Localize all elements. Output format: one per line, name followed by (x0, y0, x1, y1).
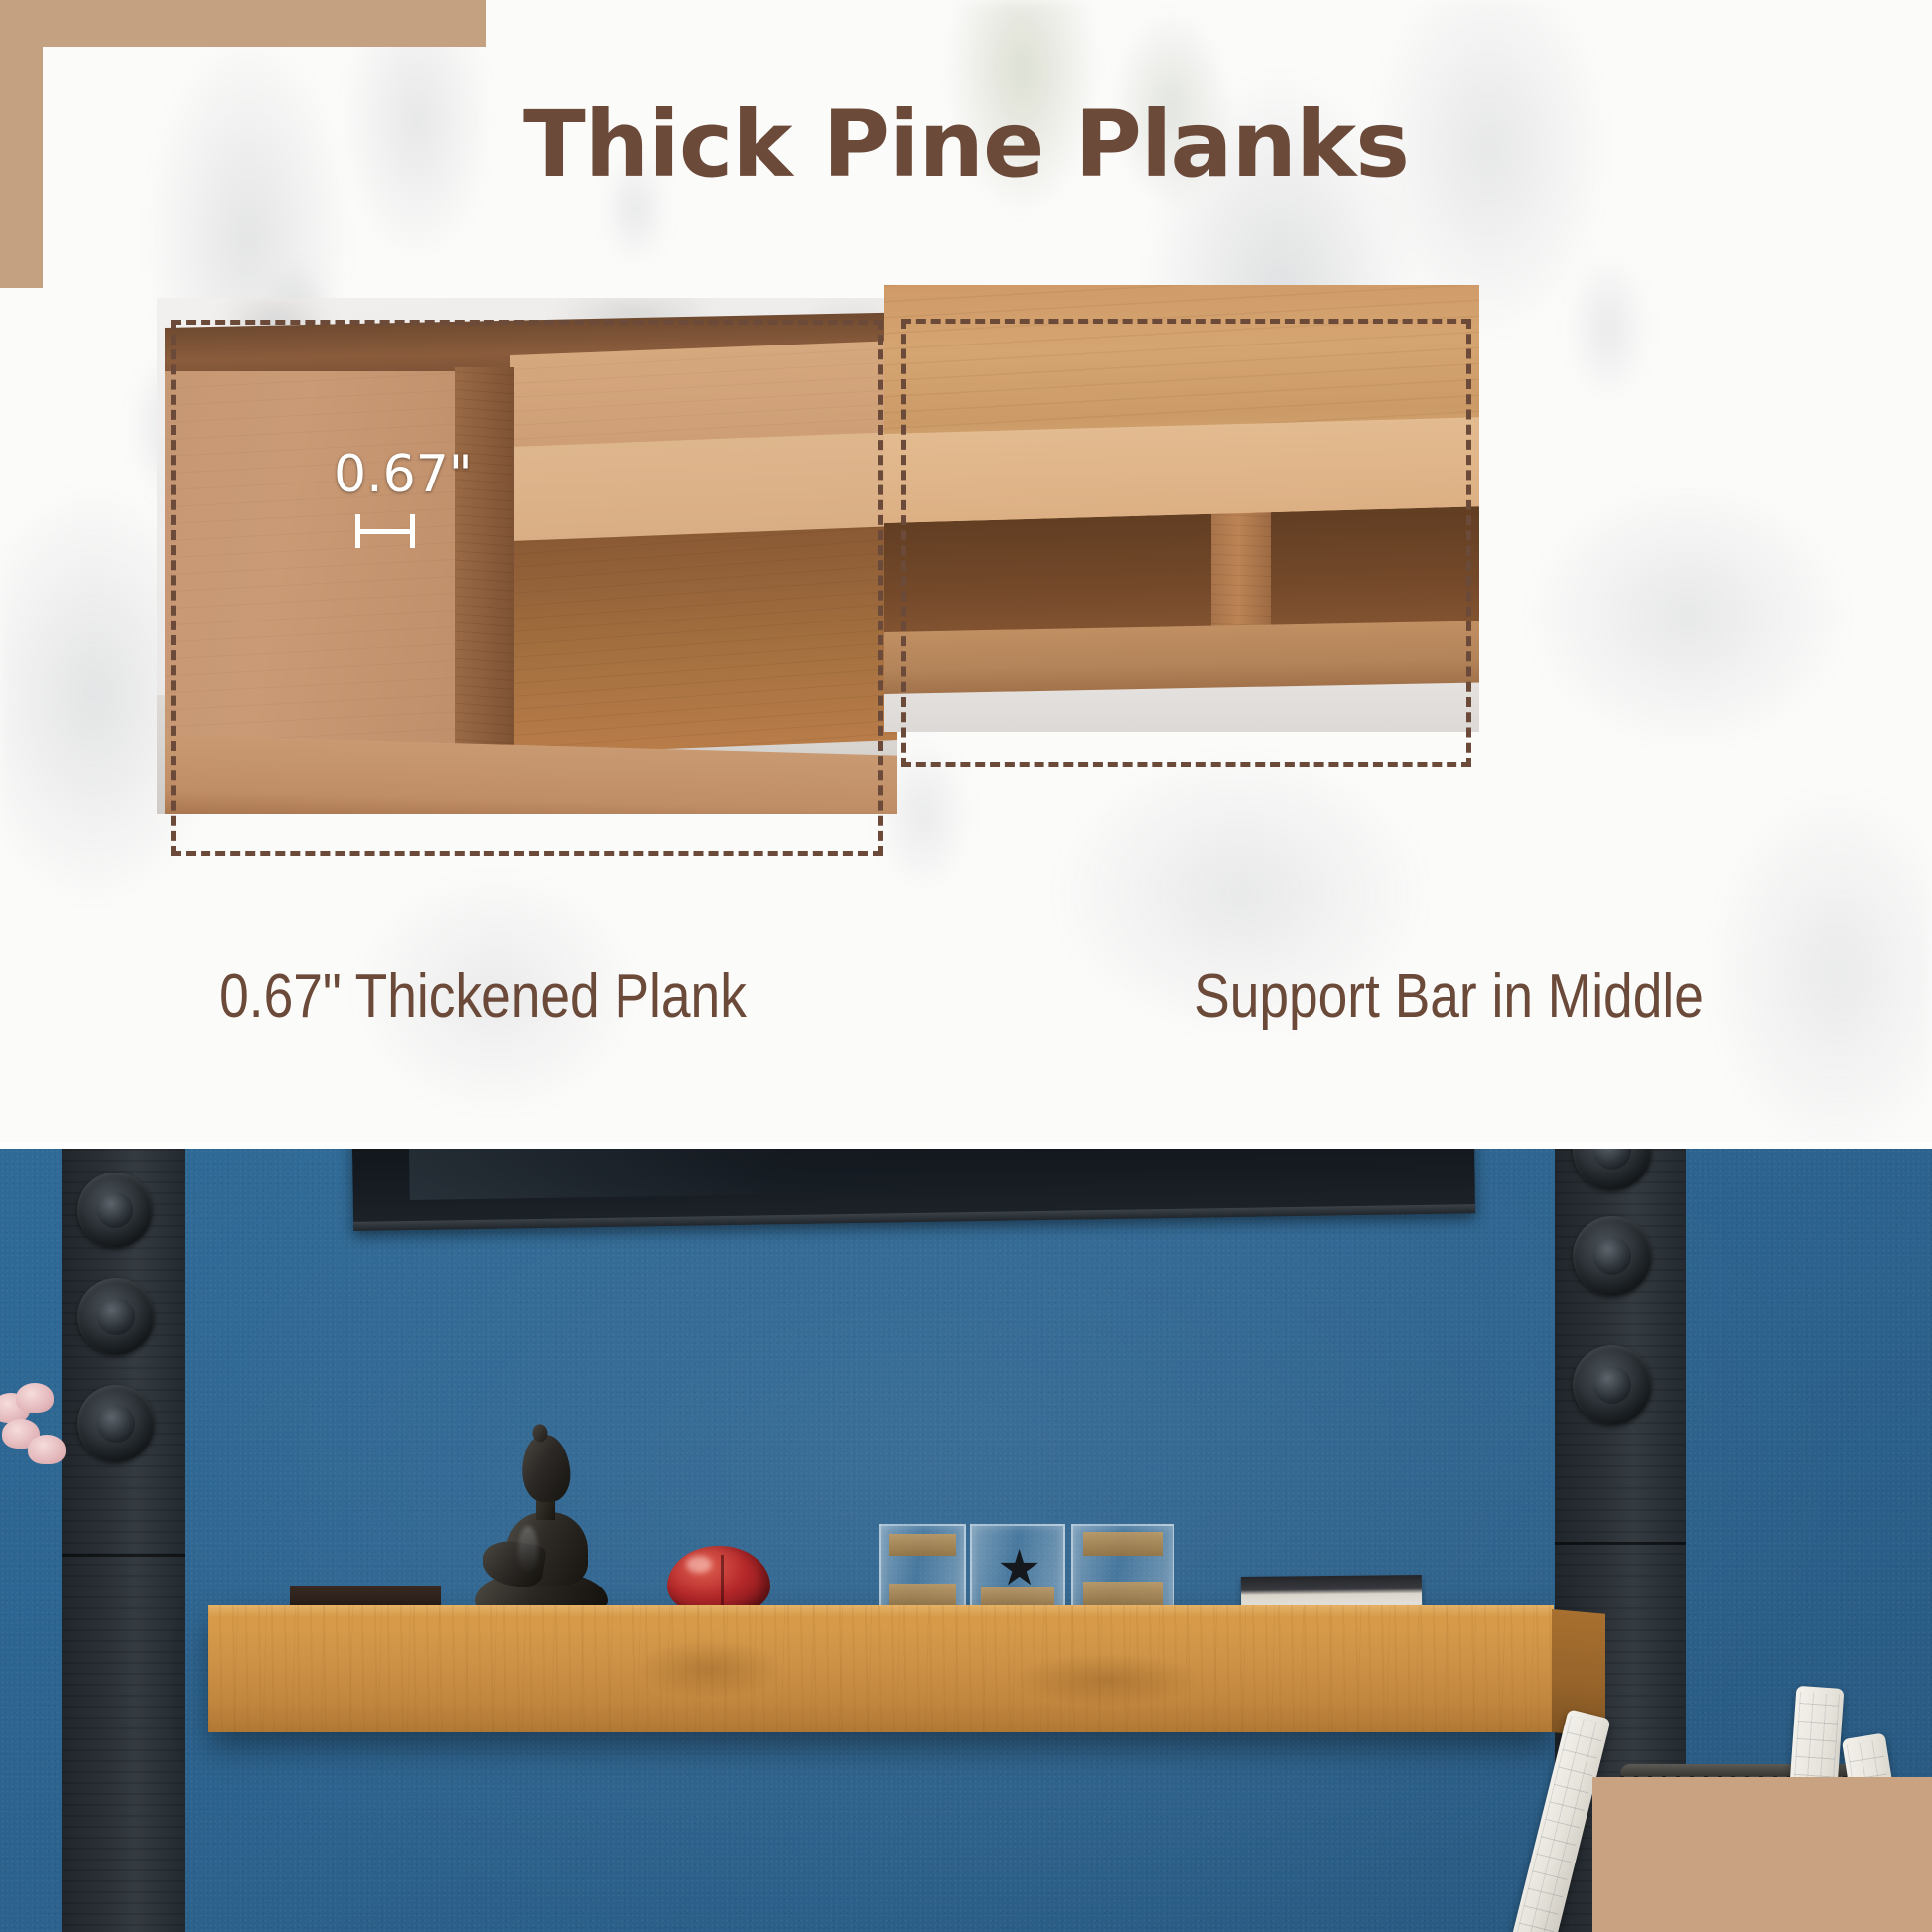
feature-section: Thick Pine Planks (0, 0, 1932, 1149)
driver-dome (97, 1298, 134, 1334)
dimension-line (355, 529, 415, 534)
glass-vessel-2 (970, 1524, 1065, 1615)
driver-dome (97, 1405, 134, 1442)
speaker-driver (1573, 1345, 1652, 1425)
buddha-statue (467, 1435, 614, 1613)
wood-grain (455, 367, 514, 784)
shelf-bottom-board (884, 621, 1479, 694)
egg-seam (721, 1555, 724, 1610)
speaker-driver (77, 1278, 155, 1355)
feature-caption-thickness: 0.67" Thickened Plank (68, 961, 898, 1032)
speaker-column-left (62, 1149, 185, 1932)
speaker-driver (1573, 1216, 1652, 1296)
glass-vessel-1 (879, 1524, 966, 1615)
dimension-cap-right (410, 514, 415, 548)
driver-dome (1593, 1237, 1631, 1275)
shelf-wood-grain (208, 1605, 1554, 1732)
speaker-wood-grain (62, 1149, 185, 1932)
plank-thickness-edge (455, 367, 514, 784)
plank-inner-cavity (510, 526, 897, 755)
driver-dome (97, 1192, 133, 1228)
speaker-panel-seam (62, 1554, 185, 1557)
glass-vessel-3 (1071, 1524, 1174, 1615)
statue-head (520, 1433, 573, 1503)
poster-canvas: Thick Pine Planks (0, 0, 1932, 1932)
flower-petal (16, 1383, 54, 1413)
tv-screen-reflection (408, 1149, 1027, 1200)
floating-wood-shelf (208, 1605, 1554, 1732)
driver-dome (1593, 1366, 1631, 1404)
vessel-contents (889, 1534, 955, 1556)
flower-petal (28, 1435, 66, 1464)
tan-corner-block (1592, 1777, 1932, 1932)
dimension-measure-bar (355, 514, 415, 548)
egg-highlight (686, 1556, 712, 1573)
feature-photo-thickness: 0.67" (157, 298, 897, 814)
wood-knot (1013, 1653, 1201, 1707)
statue-highlight (518, 1526, 538, 1574)
shelf-light-band (884, 417, 1479, 523)
feature-caption-support-bar: Support Bar in Middle (1034, 961, 1864, 1032)
vessel-contents (1083, 1532, 1163, 1556)
flower-sprig (0, 1383, 77, 1478)
speaker-driver (77, 1385, 155, 1462)
bracket-bar-horizontal (0, 0, 486, 47)
support-bar-scene (884, 285, 1479, 732)
driver-dome (1593, 1149, 1631, 1170)
glass-vessel-group (879, 1524, 1186, 1615)
wood-grain (165, 371, 463, 768)
star-ornament (1000, 1549, 1039, 1588)
plank-side-face (165, 371, 463, 768)
plank-closeup-scene: 0.67" (157, 298, 897, 814)
speaker-panel-seam (1555, 1542, 1686, 1545)
speaker-driver (77, 1173, 153, 1248)
photo-frame-right (884, 285, 1479, 732)
page-title: Thick Pine Planks (0, 91, 1932, 198)
wood-grain (510, 526, 897, 755)
dimension-label-thickness: 0.67" (334, 445, 473, 504)
feature-photo-support-bar (884, 285, 1479, 732)
photo-frame-left: 0.67" (157, 298, 897, 814)
wood-knot (635, 1639, 784, 1699)
